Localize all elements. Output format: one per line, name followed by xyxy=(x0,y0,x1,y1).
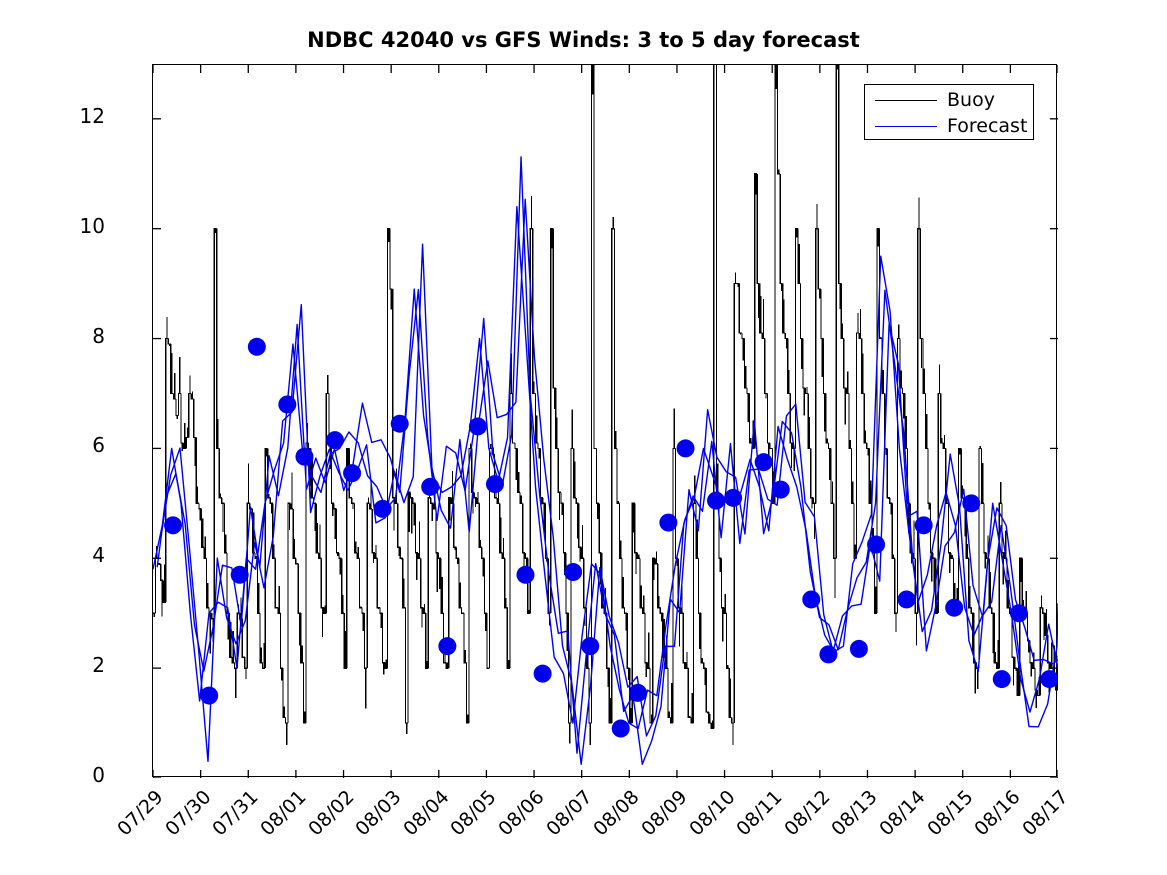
series-forecast xyxy=(153,157,1058,764)
marker-point xyxy=(391,415,409,433)
y-tick-label: 12 xyxy=(45,106,105,126)
marker-point xyxy=(564,563,582,581)
marker-point xyxy=(438,637,456,655)
y-tick-label: 2 xyxy=(45,655,105,675)
marker-point xyxy=(850,640,868,658)
figure-canvas: NDBC 42040 vs GFS Winds: 3 to 5 day fore… xyxy=(0,0,1167,875)
marker-point xyxy=(278,395,296,413)
marker-point xyxy=(659,514,677,532)
marker-point xyxy=(612,720,630,738)
legend-entry-forecast: Forecast xyxy=(865,114,1035,138)
chart-title: NDBC 42040 vs GFS Winds: 3 to 5 day fore… xyxy=(0,28,1167,52)
marker-point xyxy=(231,566,249,584)
legend-entry-buoy: Buoy xyxy=(865,88,1035,112)
marker-point xyxy=(421,478,439,496)
marker-point xyxy=(164,516,182,534)
legend-label-forecast: Forecast xyxy=(947,117,1027,136)
marker-point xyxy=(295,448,313,466)
marker-point xyxy=(819,645,837,663)
marker-point xyxy=(248,338,266,356)
chart-legend: Buoy Forecast xyxy=(864,84,1034,140)
marker-point xyxy=(945,599,963,617)
marker-point xyxy=(772,481,790,499)
legend-label-buoy: Buoy xyxy=(947,91,995,110)
y-tick-label: 4 xyxy=(45,545,105,565)
marker-point xyxy=(581,637,599,655)
marker-point xyxy=(486,475,504,493)
marker-point xyxy=(534,665,552,683)
marker-point xyxy=(898,590,916,608)
marker-point xyxy=(707,492,725,510)
y-tick-label: 6 xyxy=(45,435,105,455)
marker-point xyxy=(343,464,361,482)
marker-point xyxy=(802,590,820,608)
y-tick-label: 8 xyxy=(45,326,105,346)
marker-point xyxy=(469,417,487,435)
y-tick-label: 0 xyxy=(45,765,105,785)
axis-ticks xyxy=(153,65,1058,778)
marker-point xyxy=(724,489,742,507)
y-tick-label: 10 xyxy=(45,216,105,236)
marker-point xyxy=(962,494,980,512)
marker-point xyxy=(374,500,392,518)
marker-point xyxy=(326,431,344,449)
marker-point xyxy=(755,453,773,471)
plot-area xyxy=(152,64,1057,777)
marker-point xyxy=(200,687,218,705)
legend-swatch-buoy xyxy=(875,100,937,101)
marker-point xyxy=(1010,604,1028,622)
marker-point xyxy=(867,536,885,554)
marker-point xyxy=(677,439,695,457)
chart-svg xyxy=(153,65,1058,778)
marker-point xyxy=(516,566,534,584)
marker-point xyxy=(915,516,933,534)
marker-point xyxy=(993,670,1011,688)
legend-swatch-forecast xyxy=(875,126,937,127)
marker-point xyxy=(1040,670,1058,688)
marker-point xyxy=(629,684,647,702)
